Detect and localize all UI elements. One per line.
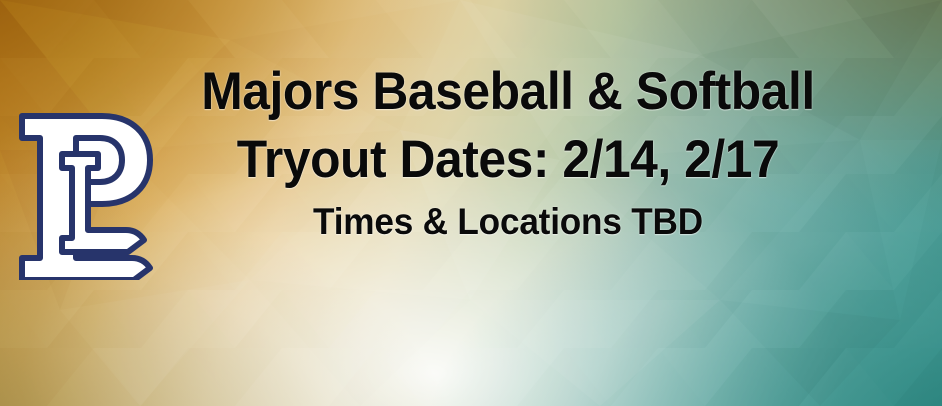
pl-monogram-logo [14, 108, 158, 280]
subline-times-locations: Times & Locations TBD [176, 194, 841, 250]
headline-line-1: Majors Baseball & Softball [179, 58, 837, 126]
headline-line-2: Tryout Dates: 2/14, 2/17 [179, 126, 837, 194]
pl-monogram-shape [22, 116, 150, 280]
tryout-announcement-banner: Majors Baseball & Softball Tryout Dates:… [0, 0, 942, 406]
banner-text-block: Majors Baseball & Softball Tryout Dates:… [158, 58, 858, 250]
